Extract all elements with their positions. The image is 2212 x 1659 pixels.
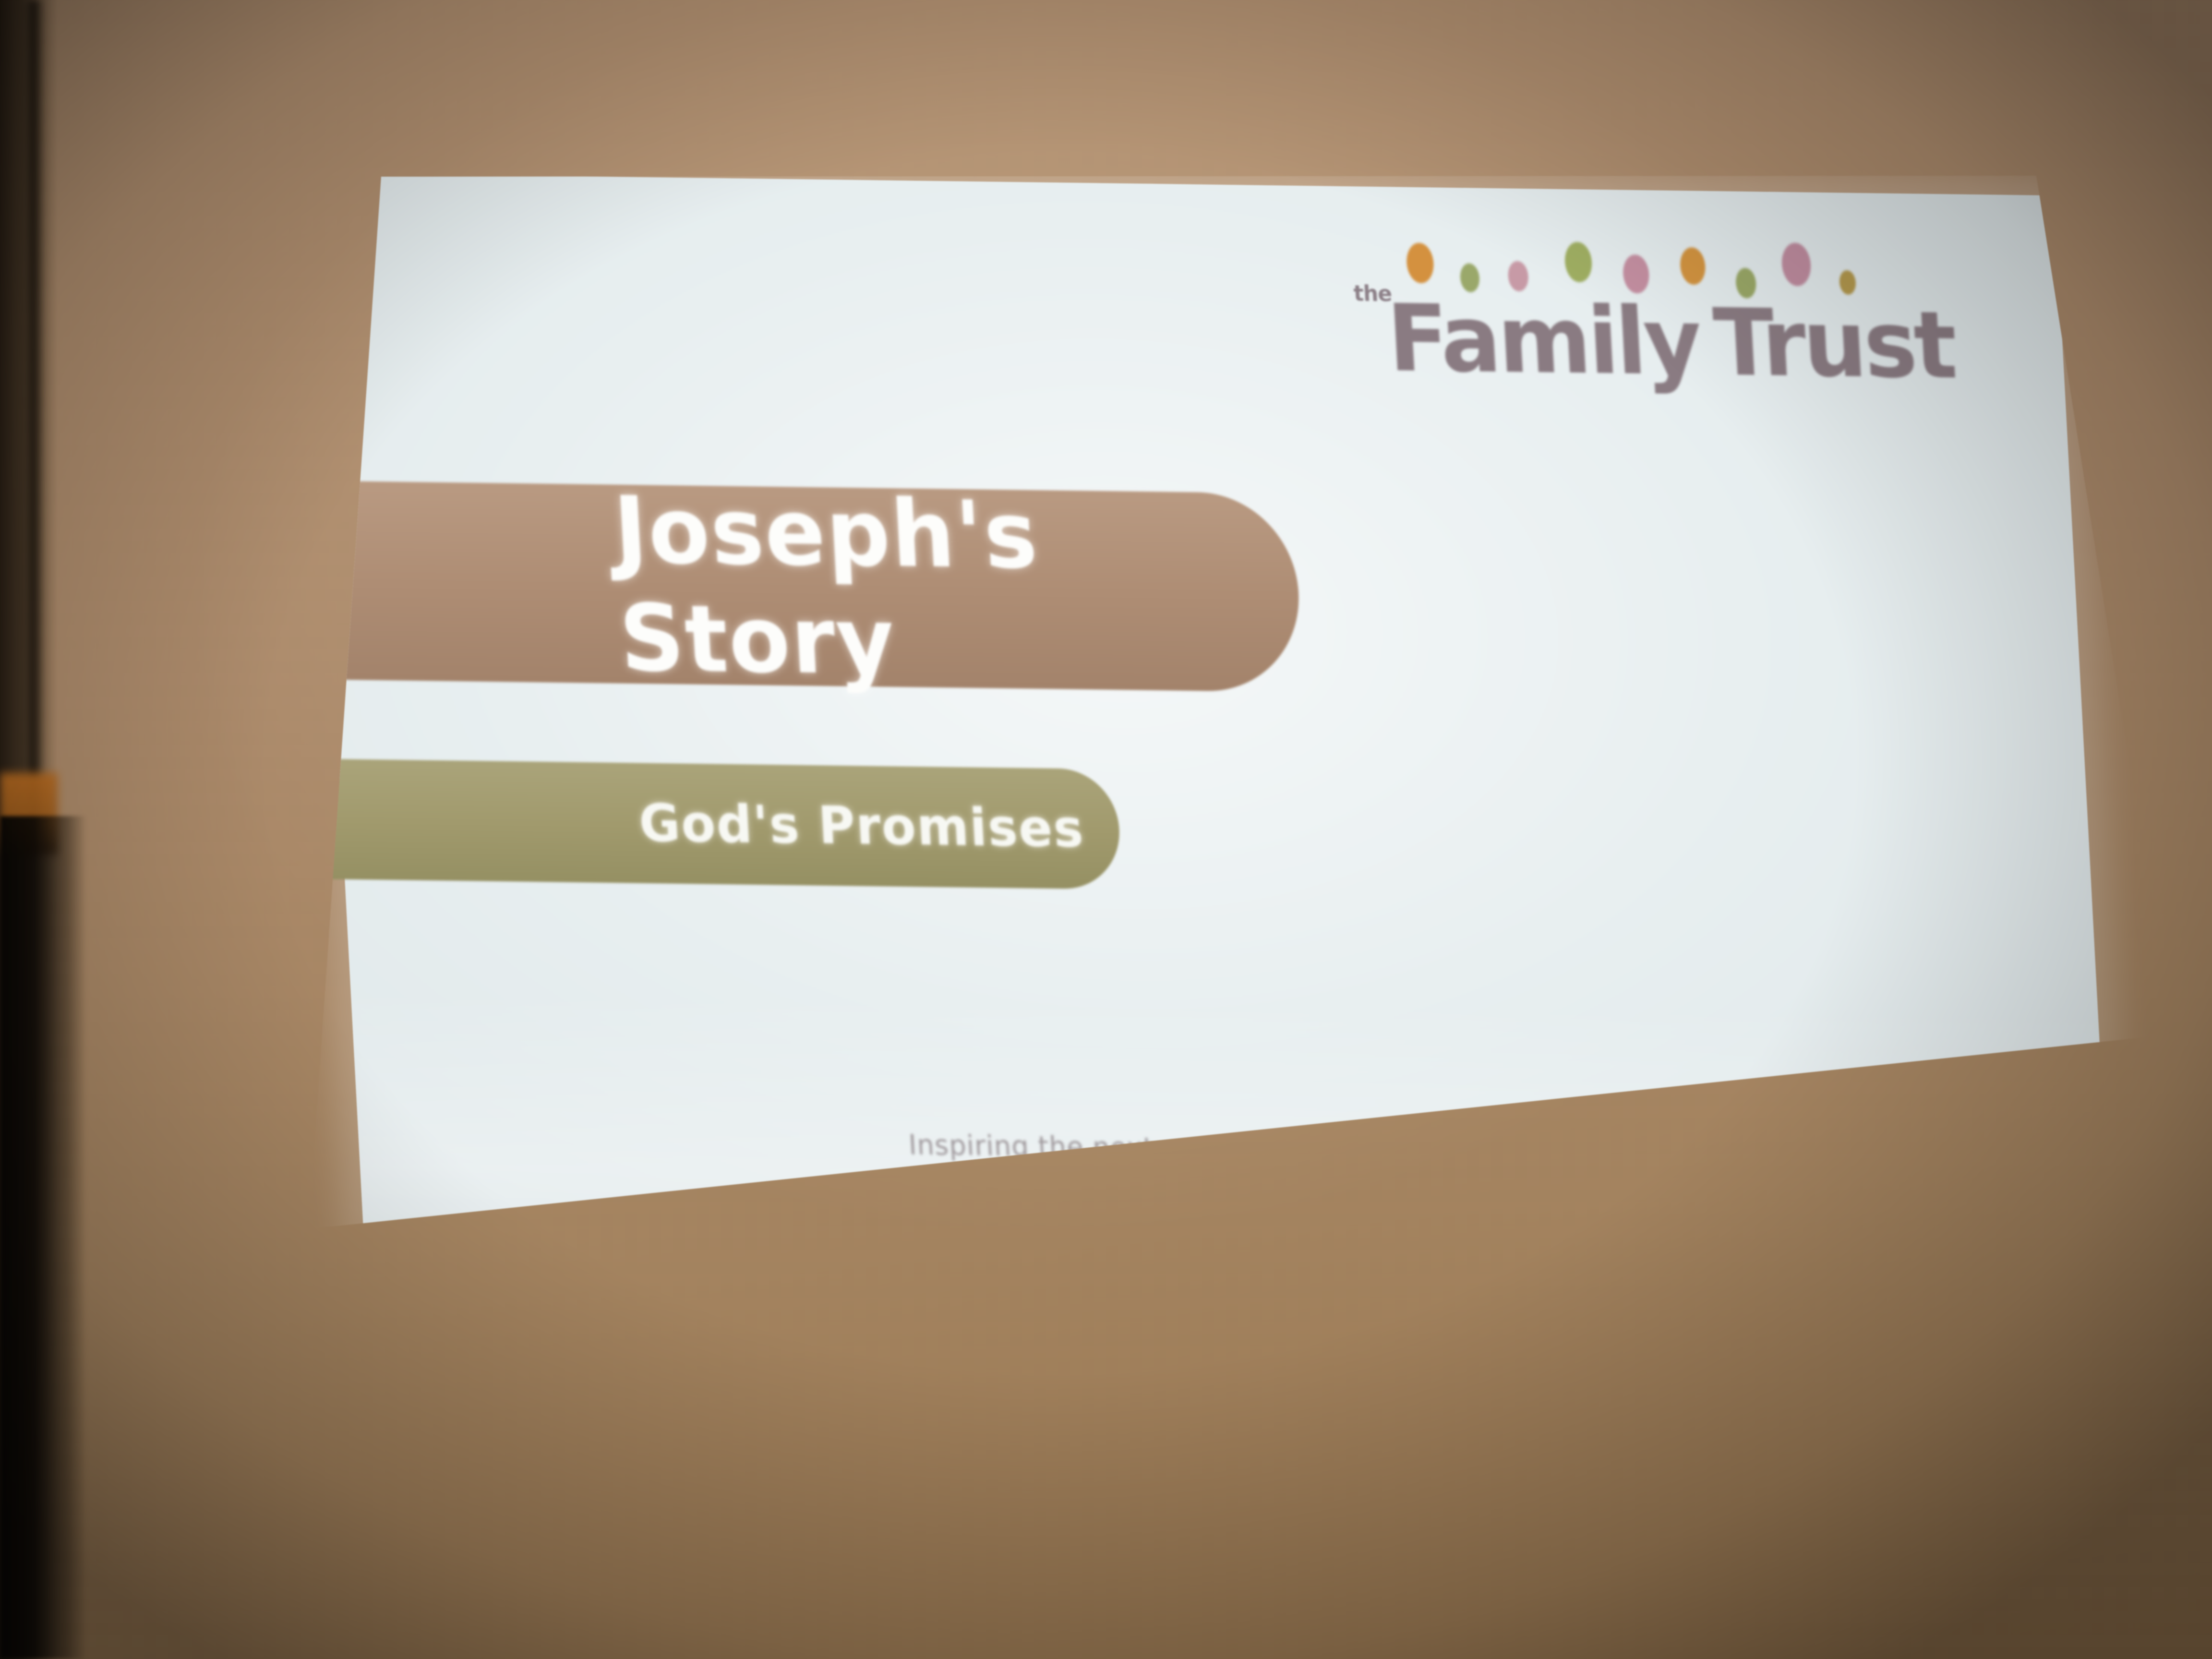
slide-title: Joseph's Story (611, 476, 1304, 701)
logo-trust-text: Trust (1711, 289, 1957, 399)
dot-orange-1-icon (1406, 243, 1434, 284)
dot-pink-3-icon (1781, 242, 1812, 286)
left-wall-seam-shadow (23, 0, 45, 835)
logo-family-text: Family (1385, 284, 1702, 396)
dot-orange-2-icon (1679, 247, 1706, 285)
family-trust-logo: the Family Trust (1347, 236, 1979, 400)
projected-slide-photo: the Family Trust Joseph's Story God's Pr… (0, 0, 2212, 1659)
logo-wordmark: the Family Trust (1349, 284, 1979, 399)
slide-subtitle: God's Promises (637, 793, 1085, 859)
dot-green-2-icon (1564, 242, 1593, 283)
left-lower-shadow (0, 816, 86, 1659)
